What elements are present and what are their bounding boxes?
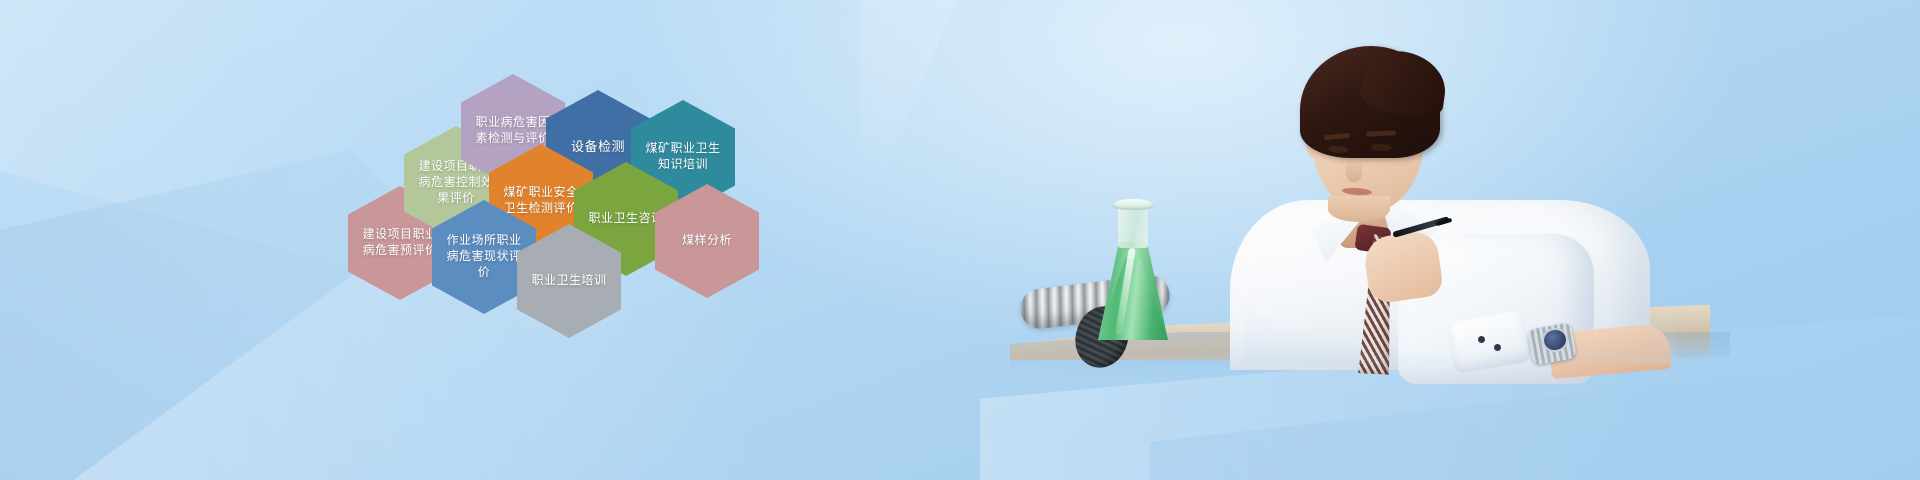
hex-label: 煤样分析 (668, 233, 746, 249)
person-photo (1250, 28, 1670, 358)
hexagon-cluster: 建设项目职业病危害预评价建设项目职业病危害控制效果评价职业病危害因素检测与评价设… (0, 0, 820, 400)
nose (1346, 158, 1362, 182)
banner-stage: 建设项目职业病危害预评价建设项目职业病危害控制效果评价职业病危害因素检测与评价设… (0, 0, 1920, 480)
chin (1328, 196, 1390, 222)
cuff-button-1 (1478, 336, 1485, 343)
cuff-button-2 (1494, 344, 1501, 351)
hex-label: 职业卫生培训 (517, 273, 620, 289)
flask-lip (1112, 199, 1154, 210)
conical-flask-icon (1096, 196, 1170, 344)
flask-neck (1118, 204, 1148, 248)
hex-label: 煤矿职业卫生知识培训 (631, 141, 735, 173)
hex-label: 设备检测 (557, 138, 639, 155)
